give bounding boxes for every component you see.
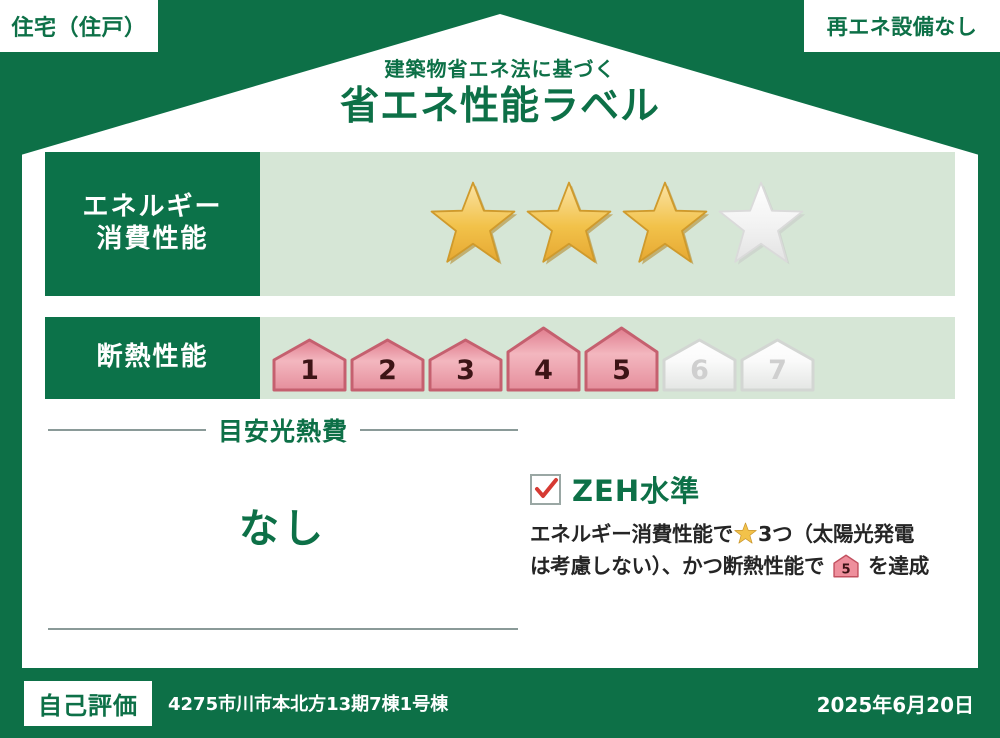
insulation-rating-area: 1234567 [260,317,955,399]
zeh-checkbox [530,474,561,505]
label-footer: 自己評価 4275市川市本北方13期7棟1号棟 2025年6月20日 [0,668,1000,738]
star-icon-filled [523,178,615,270]
insulation-level-chip: 6 [662,338,737,392]
svg-text:5: 5 [842,562,851,577]
star-icon-empty [715,178,807,270]
badge-evaluation-method: 自己評価 [24,681,152,726]
insulation-level-chip: 4 [506,326,581,392]
zeh-standard-section: ZEH水準 エネルギー消費性能で 3つ（太陽光発電 は考慮しない）、かつ断熱性能… [530,468,950,588]
energy-performance-row: エネルギー 消費性能 [45,152,955,296]
zeh-heading-row: ZEH水準 [530,468,950,510]
footer-date: 2025年6月20日 [817,689,974,718]
title-subtitle: 建築物省エネ法に基づく [0,58,1000,80]
energy-label-line1: エネルギー [82,192,222,224]
zeh-description: エネルギー消費性能で 3つ（太陽光発電 は考慮しない）、かつ断熱性能で 5 を達… [530,519,950,588]
check-icon [534,477,559,502]
insulation-performance-row: 断熱性能 1234567 [45,317,955,399]
star-rating [427,178,807,270]
zeh-desc-part2: 3つ（太陽光発電 [758,522,914,546]
rule-line-right [360,429,518,431]
label-title-block: 建築物省エネ法に基づく 省エネ性能ラベル [0,58,1000,132]
insulation-level-number: 3 [428,357,503,384]
insulation-level-number: 7 [740,357,815,384]
insulation-level-chip: 5 [584,326,659,392]
rule-line-left [48,429,206,431]
zeh-desc-part1: エネルギー消費性能で [530,522,733,546]
zeh-title: ZEH水準 [572,468,700,510]
insulation-level-number: 6 [662,357,737,384]
star-icon-filled [427,178,519,270]
star-icon-filled [619,178,711,270]
estimated-utility-cost-section: 目安光熱費 なし [48,412,518,554]
insulation-level-chip: 3 [428,338,503,392]
house-chip-icon: 5 [833,554,859,578]
insulation-level-number: 2 [350,357,425,384]
zeh-desc-part4: を達成 [868,554,929,578]
energy-rating-area [260,152,955,296]
insulation-level-number: 1 [272,357,347,384]
insulation-level-number: 5 [584,357,659,384]
page-title: 省エネ性能ラベル [0,83,1000,132]
insulation-performance-label: 断熱性能 [45,317,260,399]
energy-performance-label: 住宅（住戸） 再エネ設備なし 建築物省エネ法に基づく 省エネ性能ラベル エネルギ… [0,0,1000,738]
energy-label-line2: 消費性能 [96,224,208,256]
rule-line-bottom [48,628,518,630]
badge-renewable-equipment: 再エネ設備なし [804,0,1000,52]
insulation-level-chip: 7 [740,338,815,392]
cost-heading-row: 目安光熱費 [48,412,518,448]
insulation-level-chip: 2 [350,338,425,392]
cost-heading-text: 目安光熱費 [218,412,348,448]
insulation-level-number: 4 [506,357,581,384]
footer-address: 4275市川市本北方13期7棟1号棟 [168,690,817,716]
badge-building-type: 住宅（住戸） [0,0,158,52]
star-icon-inline [734,522,757,545]
insulation-level-chip: 1 [272,338,347,392]
zeh-desc-part3: は考慮しない）、かつ断熱性能で [530,554,824,578]
insulation-level-scale: 1234567 [272,317,815,399]
insulation-chip-inline: 5 [826,559,866,583]
cost-value: なし [48,496,518,554]
insulation-label-text: 断熱性能 [96,342,208,374]
energy-performance-label: エネルギー 消費性能 [45,152,260,296]
